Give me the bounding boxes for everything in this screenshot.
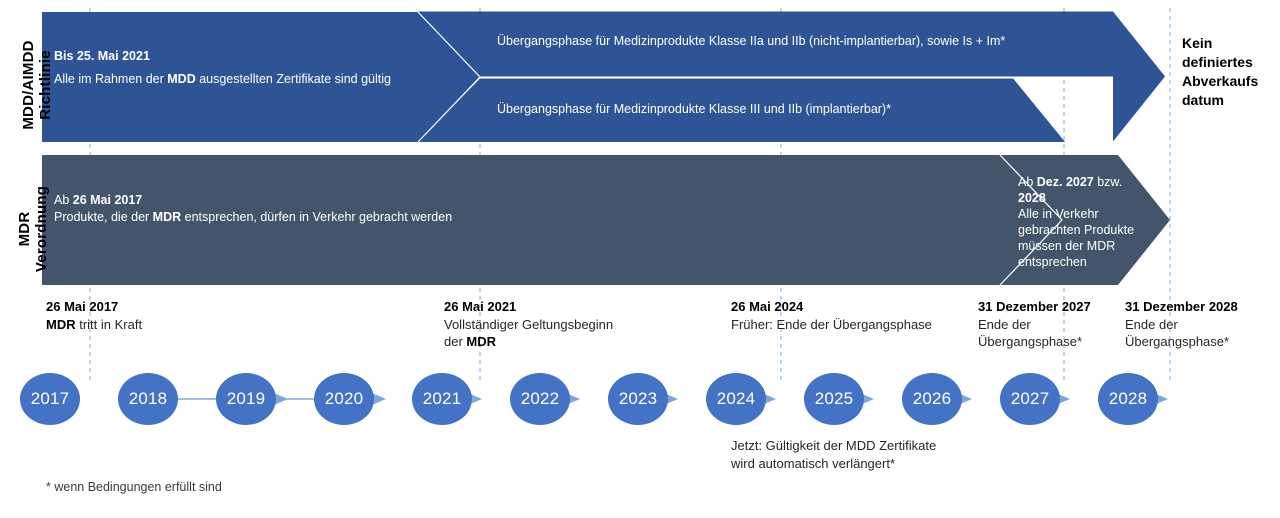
axis-label-mdd-line2: Richtlinie (37, 50, 54, 120)
milestone-2028-line2: Übergangsphase* (1125, 333, 1275, 351)
year-circle-2022-label: 2022 (521, 389, 560, 409)
year-circle-2023[interactable]: 2023 (608, 373, 668, 425)
timeline-diagram: MDD/AIMDD Richtlinie MDR Verordnung Bis … (0, 0, 1280, 518)
mdd-block-body-prefix: Alle im Rahmen der (54, 72, 167, 86)
milestone-2021-date: 26 Mai 2021 (444, 298, 674, 316)
mdr-end-body-3: müssen der MDR (1018, 238, 1146, 254)
mdd-cap-line-1: Kein (1182, 34, 1280, 53)
milestone-2021-line1: Vollständiger Geltungsbeginn (444, 316, 674, 334)
year-circle-2028-label: 2028 (1109, 389, 1148, 409)
year-circle-2024[interactable]: 2024 (706, 373, 766, 425)
axis-label-mdd: MDD/AIMDD Richtlinie (20, 30, 54, 140)
bottom-note-line1: Jetzt: Gültigkeit der MDD Zertifikate (731, 437, 1061, 455)
milestone-2021-line2-rest: der (444, 334, 466, 349)
year-circle-2024-label: 2024 (717, 389, 756, 409)
mdr-block-title-bold: 26 Mai 2017 (73, 193, 143, 207)
mdr-end-line1-prefix: Ab (1018, 175, 1037, 189)
year-circle-2025[interactable]: 2025 (804, 373, 864, 425)
mdd-arrow-lower-label: Übergangsphase für Medizinprodukte Klass… (497, 101, 1057, 118)
mdd-block-title: Bis 25. Mai 2021 (54, 48, 414, 65)
mdd-block-body-bold: MDD (167, 72, 195, 86)
milestone-2027-line1: Ende der (978, 316, 1118, 334)
mdd-arrow-lower-text: Übergangsphase für Medizinprodukte Klass… (497, 102, 891, 116)
milestone-2028-line1: Ende der (1125, 316, 1275, 334)
mdr-end-line2-bold: 2028 (1018, 191, 1046, 205)
mdr-end-block-text: Ab Dez. 2027 bzw. 2028 Alle in Verkehr g… (1018, 174, 1146, 270)
milestone-note-2017: 26 Mai 2017 MDR tritt in Kraft (46, 298, 226, 333)
mdr-end-body-4: entsprechen (1018, 254, 1146, 270)
milestone-2017-date: 26 Mai 2017 (46, 298, 226, 316)
year-circle-2020-label: 2020 (325, 389, 364, 409)
bottom-note: Jetzt: Gültigkeit der MDD Zertifikate wi… (731, 437, 1061, 473)
year-circle-2019-label: 2019 (227, 389, 266, 409)
mdr-end-line1: Ab Dez. 2027 bzw. (1018, 174, 1146, 190)
year-circle-2021-label: 2021 (423, 389, 462, 409)
year-circle-2017-label: 2017 (31, 389, 70, 409)
mdr-block-body: Produkte, die der MDR entsprechen, dürfe… (54, 209, 674, 226)
year-circle-2018[interactable]: 2018 (118, 373, 178, 425)
milestone-2017-line1-bold: MDR (46, 317, 76, 332)
year-circle-2025-label: 2025 (815, 389, 854, 409)
axis-label-mdr-line2: Verordnung (33, 186, 50, 272)
mdd-cap-line-3: Abverkaufs (1182, 72, 1280, 91)
mdr-end-line2: 2028 (1018, 190, 1146, 206)
axis-label-mdr-line1: MDR (16, 212, 33, 247)
mdd-block-body-suffix: ausgestellten Zertifikate sind gültig (196, 72, 391, 86)
mdr-block-body-prefix: Produkte, die der (54, 210, 153, 224)
mdr-block-title: Ab 26 Mai 2017 (54, 192, 674, 209)
bottom-note-line2: wird automatisch verlängert* (731, 455, 1061, 473)
year-circle-2018-label: 2018 (129, 389, 168, 409)
milestone-note-2021: 26 Mai 2021 Vollständiger Geltungsbeginn… (444, 298, 674, 351)
mdd-cap-line-2: definiertes (1182, 53, 1280, 72)
footnote: * wenn Bedingungen erfüllt sind (46, 480, 222, 494)
milestone-note-2027: 31 Dezember 2027 Ende der Übergangsphase… (978, 298, 1118, 351)
milestone-2017-line1-rest: tritt in Kraft (76, 317, 142, 332)
milestone-2024-line1: Früher: Ende der Übergangsphase (731, 316, 991, 334)
mdd-block-text: Bis 25. Mai 2021 Alle im Rahmen der MDD … (54, 48, 414, 88)
milestone-2017-line1: MDR tritt in Kraft (46, 316, 226, 334)
year-circle-2028[interactable]: 2028 (1098, 373, 1158, 425)
mdr-block-body-bold: MDR (153, 210, 181, 224)
year-circle-2019[interactable]: 2019 (216, 373, 276, 425)
year-circle-2027-label: 2027 (1011, 389, 1050, 409)
axis-label-mdd-line1: MDD/AIMDD (20, 40, 37, 129)
mdd-cap-line-4: datum (1182, 91, 1280, 110)
year-circle-2026[interactable]: 2026 (902, 373, 962, 425)
axis-label-mdr: MDR Verordnung (16, 174, 50, 284)
year-circle-2021[interactable]: 2021 (412, 373, 472, 425)
year-circle-2027[interactable]: 2027 (1000, 373, 1060, 425)
milestone-2028-date: 31 Dezember 2028 (1125, 298, 1275, 316)
year-circle-2023-label: 2023 (619, 389, 658, 409)
mdd-cap-text: Kein definiertes Abverkaufs datum (1182, 34, 1280, 110)
mdd-arrow-upper-text: Übergangsphase für Medizinprodukte Klass… (497, 34, 1005, 48)
mdr-block-text: Ab 26 Mai 2017 Produkte, die der MDR ent… (54, 192, 674, 226)
milestone-2027-date: 31 Dezember 2027 (978, 298, 1118, 316)
milestone-2021-line2: der MDR (444, 333, 674, 351)
year-circle-2020[interactable]: 2020 (314, 373, 374, 425)
mdr-end-line1-bold: Dez. 2027 (1037, 175, 1094, 189)
milestone-2027-line2: Übergangsphase* (978, 333, 1118, 351)
milestone-note-2028: 31 Dezember 2028 Ende der Übergangsphase… (1125, 298, 1275, 351)
mdd-block-body: Alle im Rahmen der MDD ausgestellten Zer… (54, 71, 414, 88)
mdr-end-body-2: gebrachten Produkte (1018, 222, 1146, 238)
mdr-end-line1-mid: bzw. (1094, 175, 1123, 189)
year-circle-2017[interactable]: 2017 (20, 373, 80, 425)
year-circle-2022[interactable]: 2022 (510, 373, 570, 425)
mdr-block-title-prefix: Ab (54, 193, 73, 207)
milestone-note-2024: 26 Mai 2024 Früher: Ende der Übergangsph… (731, 298, 991, 333)
year-circle-2026-label: 2026 (913, 389, 952, 409)
milestone-2024-date: 26 Mai 2024 (731, 298, 991, 316)
milestone-2021-line2-bold: MDR (466, 334, 496, 349)
mdr-block-body-suffix: entsprechen, dürfen in Verkehr gebracht … (181, 210, 452, 224)
mdd-arrow-upper-label: Übergangsphase für Medizinprodukte Klass… (497, 33, 1117, 50)
mdr-end-body-1: Alle in Verkehr (1018, 206, 1146, 222)
